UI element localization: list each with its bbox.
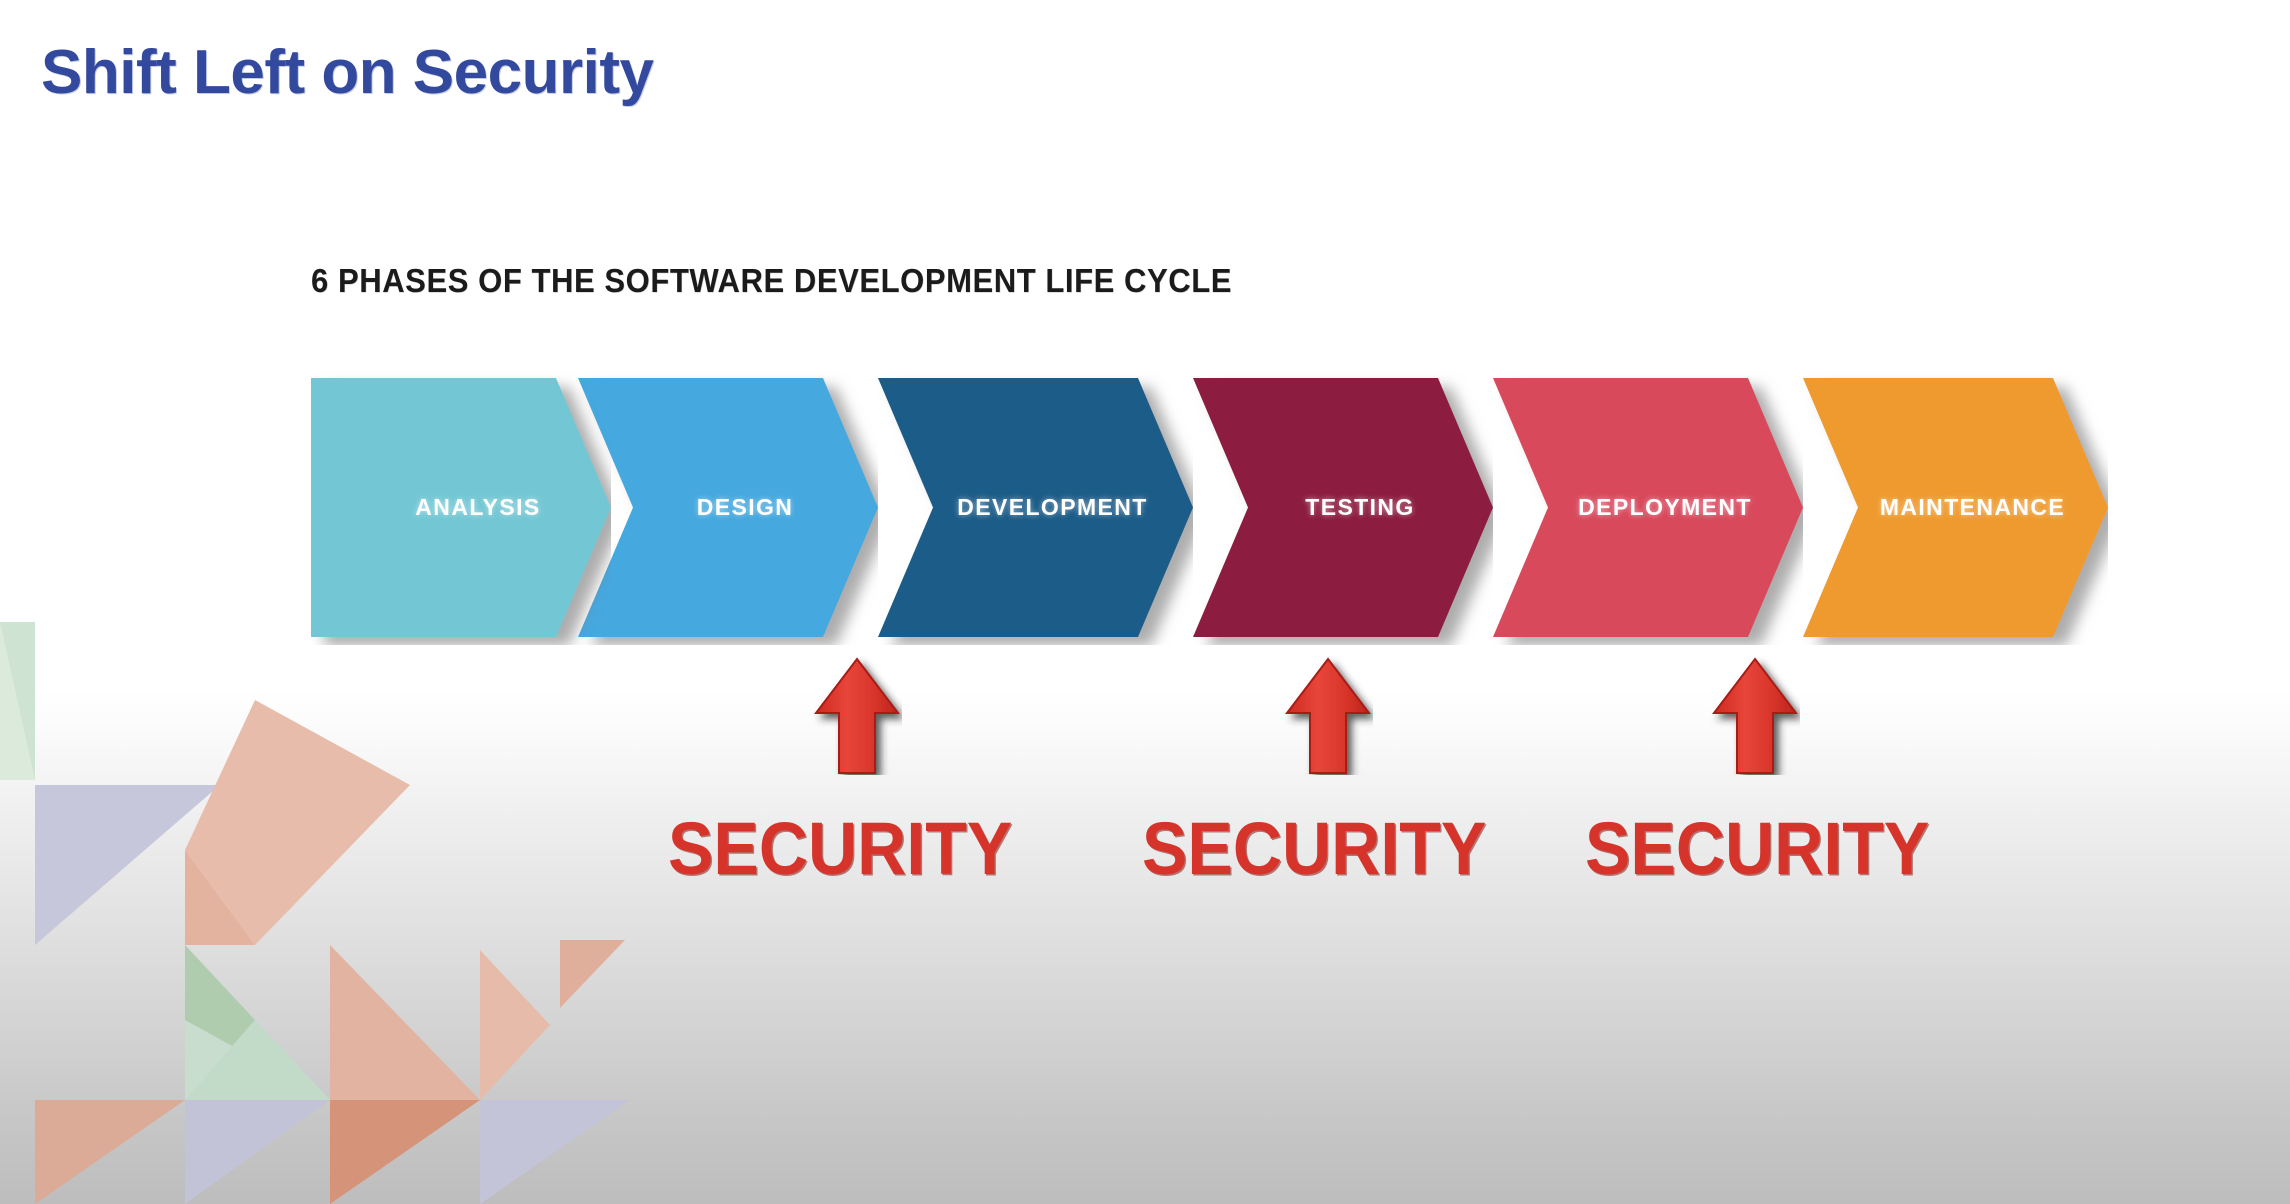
tangram-shape-lavender-2 xyxy=(185,1100,330,1204)
tangram-shape-sage-3 xyxy=(185,945,255,1100)
tangram-shape-salmon-1 xyxy=(185,700,410,945)
security-label: SECURITY xyxy=(1585,806,1929,891)
sdlc-phase-band: ANALYSIS DESIGN xyxy=(0,370,2290,645)
phase-label: ANALYSIS xyxy=(311,370,611,645)
tangram-shape-sage-4 xyxy=(185,1020,330,1100)
tangram-shape-lavender-3 xyxy=(480,1100,630,1204)
security-arrow-icon xyxy=(1283,655,1373,775)
tangram-shape-salmon-5 xyxy=(560,940,625,1008)
tangram-shape-salmon-4 xyxy=(480,950,550,1100)
phase-chevron-design[interactable]: DESIGN xyxy=(578,370,878,645)
slide-title: Shift Left on Security xyxy=(41,37,653,108)
phase-label: MAINTENANCE xyxy=(1803,370,2108,645)
tangram-shape-salmon-7 xyxy=(330,1100,480,1204)
tangram-shape-sage-2 xyxy=(0,622,35,780)
phase-chevron-maintenance[interactable]: MAINTENANCE xyxy=(1803,370,2108,645)
security-arrow-icon xyxy=(1710,655,1800,775)
security-label: SECURITY xyxy=(1142,806,1486,891)
tangram-shape-salmon-6 xyxy=(35,1100,185,1204)
security-arrow-icon xyxy=(812,655,902,775)
phase-chevron-testing[interactable]: TESTING xyxy=(1193,370,1493,645)
diagram-heading: 6 PHASES OF THE SOFTWARE DEVELOPMENT LIF… xyxy=(311,262,1232,300)
tangram-decoration xyxy=(0,600,660,1204)
phase-chevron-deployment[interactable]: DEPLOYMENT xyxy=(1493,370,1803,645)
phase-chevron-analysis[interactable]: ANALYSIS xyxy=(311,370,611,645)
phase-label: DESIGN xyxy=(578,370,878,645)
phase-label: TESTING xyxy=(1193,370,1493,645)
security-label: SECURITY xyxy=(668,806,1012,891)
tangram-shape-lavender-1 xyxy=(35,785,220,945)
tangram-shape-sage-1 xyxy=(0,622,35,780)
phase-chevron-development[interactable]: DEVELOPMENT xyxy=(878,370,1193,645)
tangram-shape-salmon-3 xyxy=(330,945,480,1100)
tangram-shape-sage-5 xyxy=(185,1020,330,1100)
phase-label: DEPLOYMENT xyxy=(1493,370,1803,645)
slide-canvas: Shift Left on Security 6 PHASES OF THE S… xyxy=(0,0,2290,1204)
tangram-shape-salmon-2 xyxy=(185,850,255,945)
phase-label: DEVELOPMENT xyxy=(878,370,1193,645)
